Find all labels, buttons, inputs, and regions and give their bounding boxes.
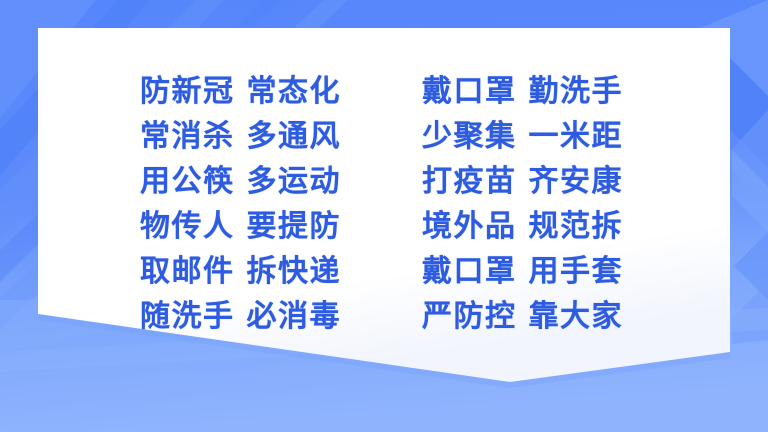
slogan-row: 用公筷 多运动 打疫苗 齐安康	[140, 160, 660, 203]
slogan-row: 防新冠 常态化 戴口罩 勤洗手	[140, 70, 660, 113]
poster-canvas: 防新冠 常态化 戴口罩 勤洗手 常消杀 多通风 少聚集 一米距 用公筷 多运动 …	[0, 0, 768, 432]
slogan-right: 境外品 规范拆	[422, 205, 660, 248]
slogan-left: 随洗手 必消毒	[140, 295, 422, 338]
slogan-right: 严防控 靠大家	[422, 295, 660, 338]
slogan-left: 防新冠 常态化	[140, 70, 422, 113]
slogan-right: 少聚集 一米距	[422, 115, 660, 158]
slogan-right: 打疫苗 齐安康	[422, 160, 660, 203]
slogan-right: 戴口罩 用手套	[422, 250, 660, 293]
slogan-row: 取邮件 拆快递 戴口罩 用手套	[140, 250, 660, 293]
slogan-grid: 防新冠 常态化 戴口罩 勤洗手 常消杀 多通风 少聚集 一米距 用公筷 多运动 …	[140, 70, 660, 338]
slogan-row: 物传人 要提防 境外品 规范拆	[140, 205, 660, 248]
slogan-left: 用公筷 多运动	[140, 160, 422, 203]
slogan-row: 常消杀 多通风 少聚集 一米距	[140, 115, 660, 158]
slogan-left: 取邮件 拆快递	[140, 250, 422, 293]
slogan-left: 常消杀 多通风	[140, 115, 422, 158]
slogan-row: 随洗手 必消毒 严防控 靠大家	[140, 295, 660, 338]
slogan-left: 物传人 要提防	[140, 205, 422, 248]
slogan-right: 戴口罩 勤洗手	[422, 70, 660, 113]
